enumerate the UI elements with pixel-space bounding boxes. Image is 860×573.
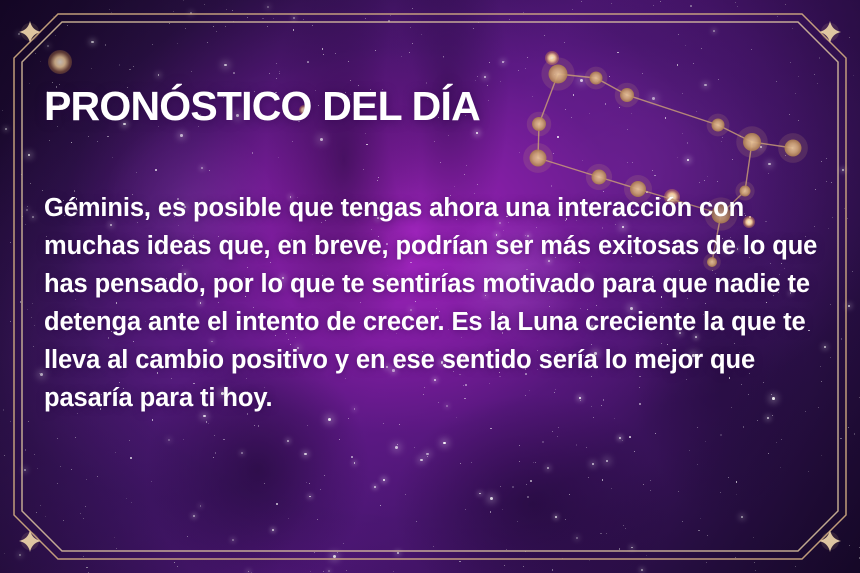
sparkle-bottom-left-icon [19, 530, 41, 552]
sparkle-bottom-right-icon [819, 530, 841, 552]
horoscope-body-text: Géminis, es posible que tengas ahora una… [44, 127, 830, 417]
bright-star [545, 51, 559, 65]
horoscope-poster: PRONÓSTICO DEL DÍA Géminis, es posible q… [0, 0, 860, 573]
sparkle-top-right-icon [819, 21, 841, 43]
bright-star [48, 50, 72, 74]
page-title: PRONÓSTICO DEL DÍA [44, 86, 834, 127]
poster-text-block: PRONÓSTICO DEL DÍA Géminis, es posible q… [44, 86, 834, 417]
sparkle-top-left-icon [19, 21, 41, 43]
